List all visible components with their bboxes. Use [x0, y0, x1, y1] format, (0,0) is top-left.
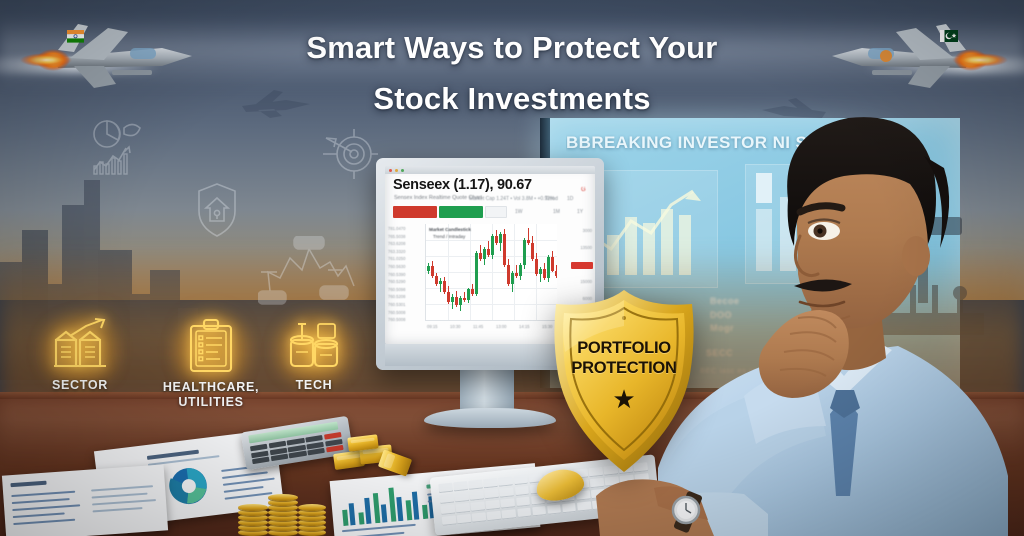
- gold-coin-stack-2: [268, 488, 298, 536]
- glow-icon-sector[interactable]: SECTOR: [34, 318, 126, 393]
- healthcare-label: HEALTHCARE, UTILITIES: [152, 380, 270, 410]
- financial-statement: [2, 464, 168, 536]
- window-minimize-dot[interactable]: [395, 169, 398, 172]
- toolbar-item-2[interactable]: 1M: [553, 209, 560, 215]
- y-axis-label: 760.5208: [388, 294, 405, 299]
- clipboard-checklist-icon: [185, 318, 237, 374]
- portfolio-protection-shield: PORTFOLIO PROTECTION ★: [548, 288, 700, 476]
- y-axis-label-right: 3000: [583, 228, 592, 233]
- x-axis-label: 11:45: [473, 324, 483, 329]
- gold-coin-stack-3: [298, 494, 326, 536]
- x-axis-label: 14:15: [519, 324, 529, 329]
- y-axis-label: 760.5098: [388, 287, 405, 292]
- y-axis-label-right: 15000: [580, 279, 592, 284]
- y-axis-label-right: 13500: [580, 245, 592, 250]
- target-gear-arrow-icon: [322, 128, 378, 180]
- window-meta-text-3: 1D: [567, 196, 573, 202]
- gold-coin-stack-1: [238, 496, 268, 536]
- window-titlebar: [385, 166, 595, 174]
- glow-icon-healthcare-utilities[interactable]: HEALTHCARE, UTILITIES: [152, 318, 270, 410]
- x-axis-label: 10:30: [450, 324, 460, 329]
- y-axis-label: 760.5290: [388, 279, 405, 284]
- chart-inline-sublabel: Trend / Intraday: [433, 234, 465, 239]
- x-axis-label: 09:15: [427, 324, 437, 329]
- pakistani-fighter-jet: [812, 12, 1012, 98]
- y-axis-label: 781.0470: [388, 226, 405, 231]
- y-axis-label: 760.5390: [388, 272, 405, 277]
- indian-fighter-jet: [12, 12, 202, 98]
- tech-canisters-icon: [285, 318, 343, 372]
- window-close-dot[interactable]: [389, 169, 392, 172]
- hero-banner: BBREAKING INVESTOR NI S-0WS tthlglets Bs…: [0, 0, 1024, 536]
- window-meta-text: Market Cap 1.24T • Vol 3.8M • +0.92%: [469, 196, 555, 202]
- y-axis-label: 765.5038: [388, 234, 405, 239]
- pie-chart-graphic: [161, 464, 217, 508]
- window-alert-text: G: [581, 187, 586, 193]
- window-meta-text-2: Trend: [545, 196, 558, 202]
- y-axis-label: 760.5008: [388, 317, 405, 322]
- y-axis-label: 761.0250: [388, 256, 405, 261]
- sector-growth-icon: [50, 318, 110, 372]
- toolbar-item-3[interactable]: 1Y: [577, 209, 583, 215]
- current-price-pill: [571, 262, 593, 269]
- y-axis-label: 760.5008: [388, 310, 405, 315]
- tab-sell[interactable]: [393, 206, 437, 218]
- glow-icon-tech[interactable]: TECH: [262, 318, 366, 393]
- y-axis-label: 763.3320: [388, 249, 405, 254]
- network-nodes-icon: [258, 236, 370, 308]
- toolbar-item-1[interactable]: 1W: [515, 209, 523, 215]
- chart-window-title: Senseex (1.17), 90.67: [393, 177, 532, 193]
- india-flag-icon: [67, 30, 84, 43]
- sector-label: SECTOR: [34, 378, 126, 393]
- tab-buy[interactable]: [439, 206, 483, 218]
- chart-inline-label: Market Candlestick: [429, 227, 471, 232]
- pakistan-flag-icon: [940, 30, 958, 42]
- pie-bar-chart-icon: [88, 118, 154, 180]
- x-axis-label: 13:00: [496, 324, 506, 329]
- y-axis-label: 763.6208: [388, 241, 405, 246]
- shield-star-icon: ★: [548, 386, 700, 412]
- tab-hold[interactable]: [485, 206, 507, 218]
- monitor-stand-base: [424, 408, 556, 428]
- window-maximize-dot[interactable]: [401, 169, 404, 172]
- shield-text: PORTFOLIO PROTECTION: [548, 338, 700, 378]
- y-axis-label: 760.5301: [388, 302, 405, 307]
- y-axis-label: 760.5630: [388, 264, 405, 269]
- tech-label: TECH: [262, 378, 366, 393]
- ghost-jet-left: [236, 88, 314, 123]
- shield-house-lock-icon: [196, 182, 238, 238]
